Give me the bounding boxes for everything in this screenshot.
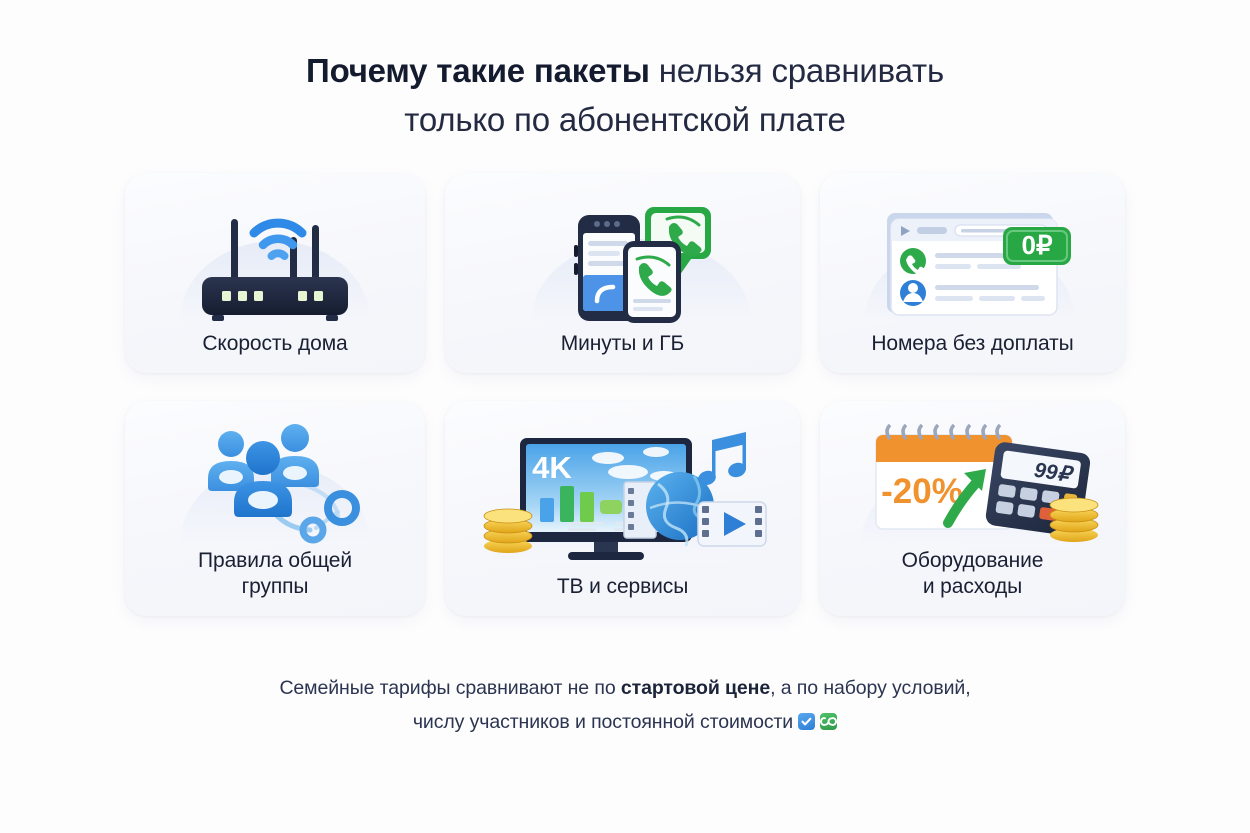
footer-text-part1: Семейные тарифы сравнивают не по bbox=[279, 677, 620, 699]
smartphones-calls-icon bbox=[455, 185, 790, 331]
tv-media-icon: 4K bbox=[455, 413, 790, 574]
footer-text-part2: , а по набору условий, bbox=[770, 677, 970, 699]
title-remainder: нельзя сравнивать bbox=[650, 52, 944, 89]
card-label-group-rules-line2: группы bbox=[242, 575, 309, 598]
footer-line-1: Семейные тарифы сравнивают не по стартов… bbox=[279, 672, 970, 706]
footer-emphasis: стартовой цене bbox=[621, 677, 770, 699]
feature-card-grid: Скорость дома bbox=[125, 173, 1125, 616]
footer-note: Семейные тарифы сравнивают не по стартов… bbox=[279, 672, 970, 739]
card-label-equipment-line1: Оборудование bbox=[902, 549, 1044, 572]
card-label-group-rules: Правила общейгруппы bbox=[198, 548, 352, 602]
card-label-speed-home: Скорость дома bbox=[202, 331, 347, 359]
card-numbers-no-surcharge[interactable]: 0₽ Номера без доплаты bbox=[820, 173, 1125, 373]
contact-list-icon: 0₽ bbox=[830, 185, 1115, 331]
check-badge-icon bbox=[798, 713, 815, 730]
title-line-1: Почему такие пакеты нельзя сравнивать bbox=[306, 50, 944, 92]
user-group-network-icon bbox=[135, 413, 415, 548]
footer-line-2: числу участников и постоянной стоимости bbox=[279, 706, 970, 740]
title-line-2: только по абонентской плате bbox=[306, 99, 944, 141]
price-badge-text: 0₽ bbox=[1021, 230, 1052, 260]
wifi-router-icon bbox=[135, 185, 415, 331]
discount-text: -20% bbox=[881, 472, 963, 511]
page-title: Почему такие пакеты нельзя сравнивать то… bbox=[306, 50, 944, 140]
card-label-numbers: Номера без доплаты bbox=[871, 331, 1073, 359]
card-tv-services[interactable]: 4K bbox=[445, 401, 800, 616]
card-label-minutes-gb: Минуты и ГБ bbox=[561, 331, 685, 359]
card-group-rules[interactable]: Правила общейгруппы bbox=[125, 401, 425, 616]
screen-resolution-label: 4K bbox=[532, 450, 572, 485]
card-label-group-rules-line1: Правила общей bbox=[198, 549, 352, 572]
card-label-equipment-line2: и расходы bbox=[923, 575, 1022, 598]
infinity-badge-icon bbox=[820, 713, 837, 730]
card-speed-home[interactable]: Скорость дома bbox=[125, 173, 425, 373]
footer-text-line2: числу участников и постоянной стоимости bbox=[413, 711, 793, 733]
card-label-tv-services: ТВ и сервисы bbox=[557, 574, 688, 602]
title-emphasis: Почему такие пакеты bbox=[306, 52, 650, 89]
card-equipment-costs[interactable]: -20% 99₽ bbox=[820, 401, 1125, 616]
card-label-equipment-costs: Оборудованиеи расходы bbox=[902, 548, 1044, 602]
calendar-calculator-icon: -20% 99₽ bbox=[830, 413, 1115, 548]
card-minutes-gb[interactable]: Минуты и ГБ bbox=[445, 173, 800, 373]
infographic-page: Почему такие пакеты нельзя сравнивать то… bbox=[0, 0, 1250, 833]
